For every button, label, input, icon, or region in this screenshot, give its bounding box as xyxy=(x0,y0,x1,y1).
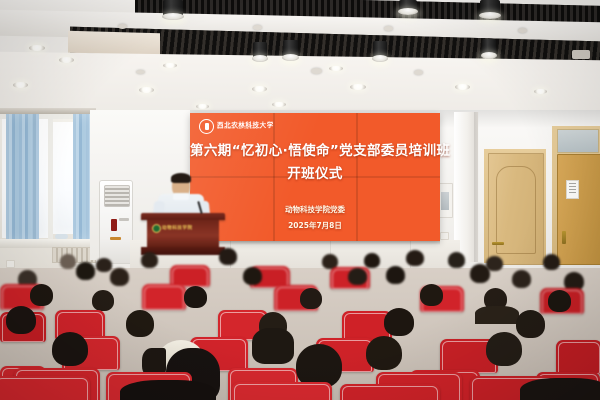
door-handle-icon[interactable] xyxy=(562,231,566,244)
school-emblem-icon xyxy=(152,224,161,233)
screen-glare xyxy=(190,113,440,241)
led-display-screen: 西北农林科技大学 NORTHWEST A&F UNIVERSITY 第六期“忆初… xyxy=(190,113,440,241)
audience-head xyxy=(386,266,405,284)
door-transom-window xyxy=(557,129,599,153)
downlight-icon xyxy=(455,84,470,90)
speaker-hair xyxy=(171,173,191,183)
pendant-spotlight-icon xyxy=(283,40,298,58)
smoke-detector-icon xyxy=(384,26,393,31)
curtain xyxy=(33,112,39,244)
audience-head xyxy=(470,264,490,283)
seat[interactable] xyxy=(0,376,90,400)
downlight-icon xyxy=(329,66,343,71)
podium-label: 动物科技学院 xyxy=(162,225,193,231)
seat-row xyxy=(0,374,600,400)
pendant-spotlight-icon xyxy=(480,0,500,16)
downlight-icon xyxy=(196,104,209,109)
wall-socket[interactable] xyxy=(440,232,449,240)
panel-box-window xyxy=(441,192,449,210)
ceiling-grille-beam xyxy=(68,31,160,56)
downlight-icon xyxy=(13,82,28,88)
screen-bottom-shadow xyxy=(190,241,440,245)
audience-head xyxy=(76,262,95,280)
pendant-spotlight-icon xyxy=(399,0,417,12)
smoke-detector-icon xyxy=(118,24,127,29)
audience-shoulders xyxy=(120,380,216,400)
curtain xyxy=(6,112,34,244)
audience-head xyxy=(184,286,207,308)
smoke-detector-icon xyxy=(414,70,423,75)
smoke-detector-icon xyxy=(136,70,145,74)
window-mullion xyxy=(48,118,53,240)
ac-badge xyxy=(110,237,121,240)
downlight-icon xyxy=(534,89,547,94)
door-handle-icon[interactable] xyxy=(492,242,504,245)
downlight-icon xyxy=(163,63,177,68)
photo-scene: 西北农林科技大学 NORTHWEST A&F UNIVERSITY 第六期“忆初… xyxy=(0,0,600,400)
audience-head xyxy=(243,267,262,285)
audience-head xyxy=(30,284,53,306)
smoke-detector-icon xyxy=(518,28,527,33)
smoke-detector-icon xyxy=(253,25,262,30)
audience-shoulders xyxy=(520,378,600,400)
pendant-spotlight-icon xyxy=(482,39,496,56)
smoke-detector-icon xyxy=(311,68,322,74)
seat[interactable] xyxy=(340,384,440,400)
downlight-icon xyxy=(29,45,45,51)
ac-brand-text xyxy=(119,218,129,221)
audience-head xyxy=(420,284,443,306)
podium-body: 动物科技学院 xyxy=(147,220,219,248)
pendant-spotlight-icon xyxy=(373,41,387,59)
speaker-collar xyxy=(173,193,189,200)
pendant-spotlight-icon xyxy=(253,42,267,59)
sill-object xyxy=(55,234,68,239)
audience-head xyxy=(6,306,36,334)
downlight-icon xyxy=(139,87,154,93)
ac-vent xyxy=(104,185,130,207)
door-notice-sign xyxy=(566,180,579,199)
downlight-icon xyxy=(350,84,366,90)
pillar-edge-shadow xyxy=(474,112,479,262)
seat[interactable] xyxy=(232,382,332,400)
downlight-icon xyxy=(252,86,267,92)
podium-top xyxy=(141,213,225,220)
downlight-icon xyxy=(59,57,74,63)
projector-mount xyxy=(572,50,590,59)
door-panel-inset xyxy=(496,166,536,254)
downlight-icon xyxy=(272,102,286,107)
curtain-rail xyxy=(0,108,96,114)
ac-display-panel[interactable] xyxy=(111,219,117,231)
pendant-spotlight-icon xyxy=(163,0,183,17)
audience-head xyxy=(348,268,367,285)
